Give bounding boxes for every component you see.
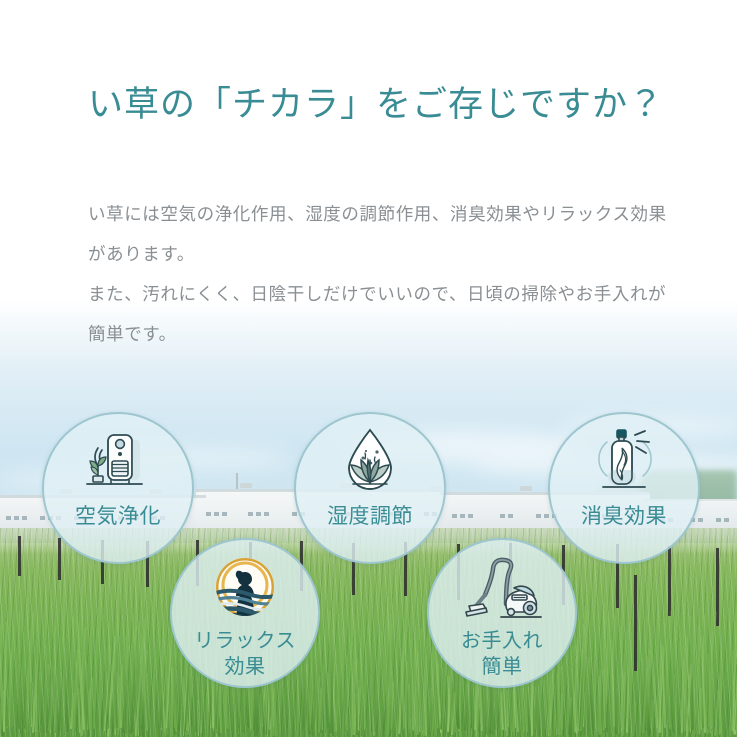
building-window bbox=[264, 512, 269, 516]
body-paragraph-1: い草には空気の浄化作用、湿度の調節作用、消臭効果やリラックス効果があります。 bbox=[88, 194, 668, 274]
body-paragraph-2: また、汚れにくく、日陰干しだけでいいので、日頃の掃除やお手入れが簡単です。 bbox=[88, 274, 668, 354]
building-window bbox=[468, 514, 473, 518]
building-window bbox=[698, 518, 703, 522]
roof-vent bbox=[240, 483, 252, 488]
air-purifier-icon bbox=[81, 426, 155, 498]
building-window bbox=[292, 512, 297, 516]
building-window bbox=[222, 512, 227, 516]
grass-blade bbox=[673, 674, 676, 733]
building-window bbox=[716, 518, 721, 522]
feature-badge-label: 湿度調節 bbox=[327, 504, 413, 529]
feature-badge-label: リラックス 効果 bbox=[194, 628, 296, 680]
grass-blade bbox=[450, 663, 451, 736]
building-window bbox=[536, 514, 541, 518]
building-window bbox=[452, 514, 457, 518]
roof-vent bbox=[520, 486, 532, 491]
field-post bbox=[668, 546, 671, 616]
building-window bbox=[214, 512, 219, 516]
building-window bbox=[40, 516, 45, 520]
feature-badge-humidity-control[interactable]: 湿度調節 bbox=[294, 412, 446, 564]
field-post bbox=[634, 575, 637, 671]
relax-waves-figure-icon bbox=[208, 554, 282, 624]
grass-blade bbox=[125, 665, 127, 734]
building-window bbox=[248, 512, 253, 516]
grass-blade bbox=[376, 689, 377, 736]
feature-badge-easy-care[interactable]: お手入れ 簡単 bbox=[427, 538, 577, 688]
building-window bbox=[460, 514, 465, 518]
water-droplet-grass-icon bbox=[334, 426, 406, 498]
feature-badge-air-purification[interactable]: 空気浄化 bbox=[42, 412, 194, 564]
grass-blade bbox=[303, 655, 305, 728]
building-window bbox=[6, 516, 11, 520]
feature-badge-label: お手入れ 簡単 bbox=[461, 628, 543, 680]
building-window bbox=[500, 514, 505, 518]
building-window bbox=[724, 518, 729, 522]
vacuum-cleaner-icon bbox=[459, 554, 545, 624]
grass-blade bbox=[448, 656, 449, 731]
field-post bbox=[18, 536, 21, 576]
building-window bbox=[14, 516, 19, 520]
grass-blade bbox=[88, 691, 89, 736]
feature-badge-label: 空気浄化 bbox=[75, 504, 161, 529]
page-title: い草の「チカラ」をご存じですか？ bbox=[88, 82, 664, 128]
building-window bbox=[544, 514, 549, 518]
infographic-page: い草の「チカラ」をご存じですか？ い草には空気の浄化作用、湿度の調節作用、消臭効… bbox=[0, 0, 737, 737]
body-copy: い草には空気の浄化作用、湿度の調節作用、消臭効果やリラックス効果があります。 ま… bbox=[88, 194, 668, 354]
grass-blade bbox=[238, 684, 239, 730]
building-window bbox=[256, 512, 261, 516]
field-post bbox=[58, 538, 61, 580]
spray-bottle-leaf-icon bbox=[587, 426, 661, 498]
building-window bbox=[22, 516, 27, 520]
building-window bbox=[508, 514, 513, 518]
feature-badge-deodorizing[interactable]: 消臭効果 bbox=[548, 412, 700, 564]
feature-badge-relaxation[interactable]: リラックス 効果 bbox=[170, 538, 320, 688]
feature-badge-label: 消臭効果 bbox=[581, 504, 667, 529]
grass-blade bbox=[356, 659, 358, 735]
building-window bbox=[206, 512, 211, 516]
